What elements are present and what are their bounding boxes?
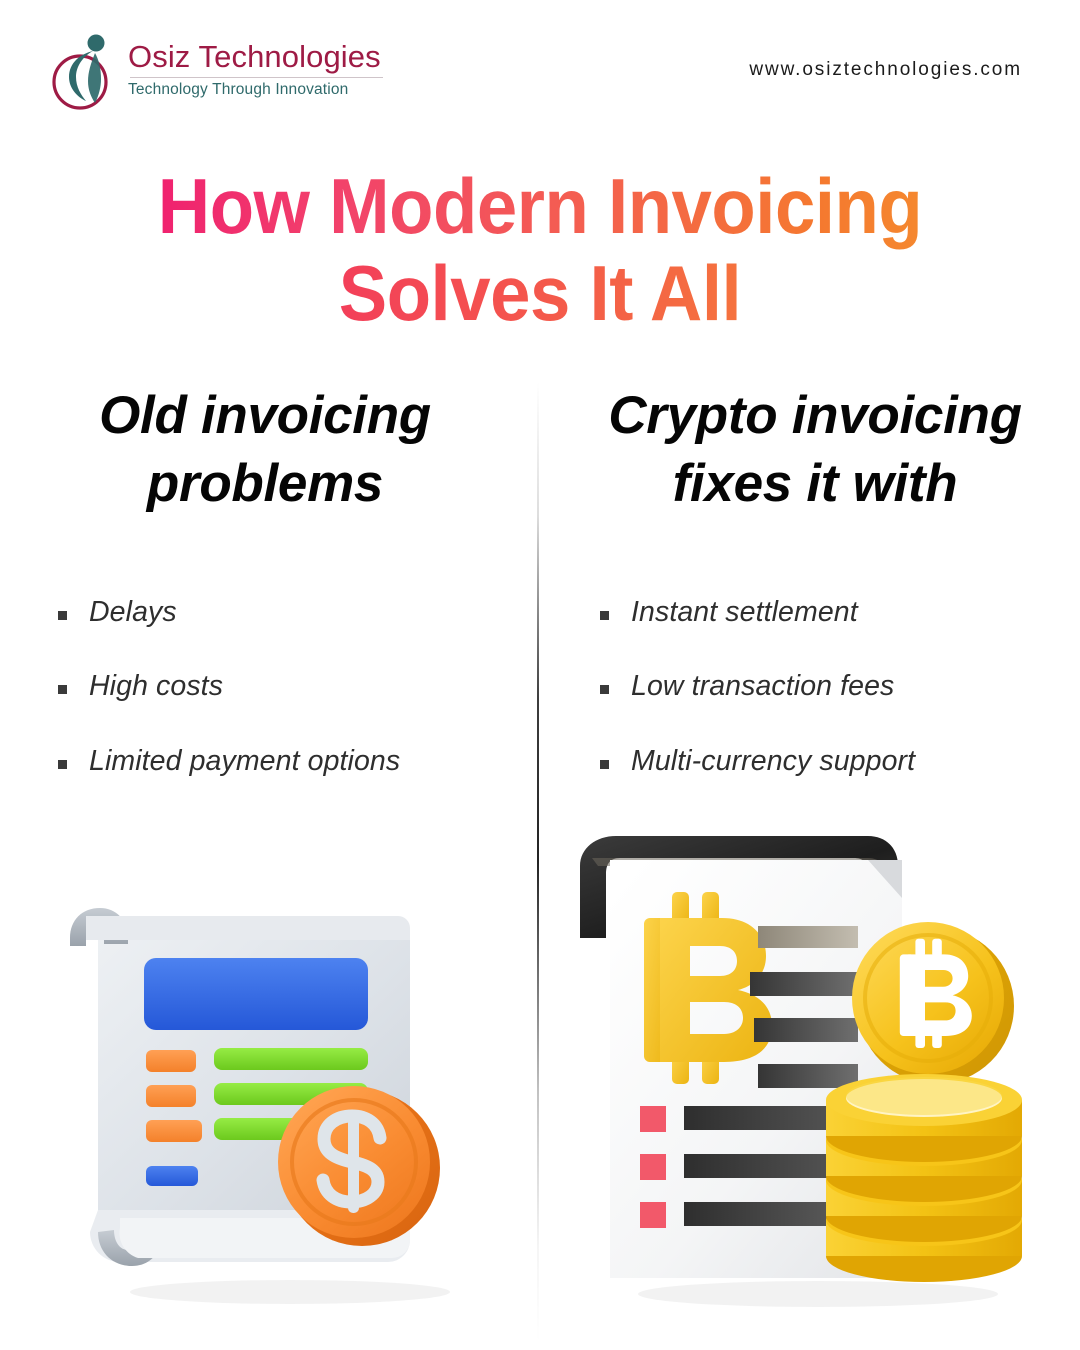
- column-crypto-invoicing: Crypto invoicing fixes it with Instant s…: [540, 382, 1080, 802]
- bullet-label: Low transaction fees: [631, 668, 894, 704]
- bullet-label: Instant settlement: [631, 594, 858, 630]
- comparison-columns: Old invoicing problems Delays High costs…: [0, 382, 1080, 802]
- logo-title: Osiz Technologies: [128, 41, 381, 74]
- list-item: Low transaction fees: [600, 668, 1080, 704]
- brand-logo[interactable]: Osiz Technologies Technology Through Inn…: [52, 27, 381, 113]
- list-item: Instant settlement: [600, 594, 1080, 630]
- bullet-square-icon: [600, 685, 609, 694]
- osiz-logo-icon: [52, 27, 114, 113]
- headline-line-2: Solves It All: [38, 250, 1042, 337]
- bullet-square-icon: [600, 760, 609, 769]
- page-header: Osiz Technologies Technology Through Inn…: [0, 0, 1080, 140]
- bitcoin-invoice-coin-stack-illustration: [568, 828, 1048, 1310]
- bullet-square-icon: [600, 611, 609, 620]
- column-heading-left: Old invoicing problems: [0, 382, 540, 518]
- logo-tagline: Technology Through Innovation: [128, 81, 381, 99]
- headline-line-1: How Modern Invoicing: [38, 163, 1042, 250]
- bullet-label: Multi-currency support: [631, 743, 915, 779]
- bullet-list-right: Instant settlement Low transaction fees …: [0, 594, 1080, 779]
- logo-divider-rule: [130, 77, 383, 78]
- column-heading-right: Crypto invoicing fixes it with: [540, 382, 1080, 518]
- website-url[interactable]: www.osiztechnologies.com: [749, 59, 1022, 81]
- list-item: Multi-currency support: [600, 743, 1080, 779]
- page-title: How Modern Invoicing Solves It All: [0, 163, 1080, 338]
- paper-invoice-dollar-coin-illustration: [60, 880, 520, 1310]
